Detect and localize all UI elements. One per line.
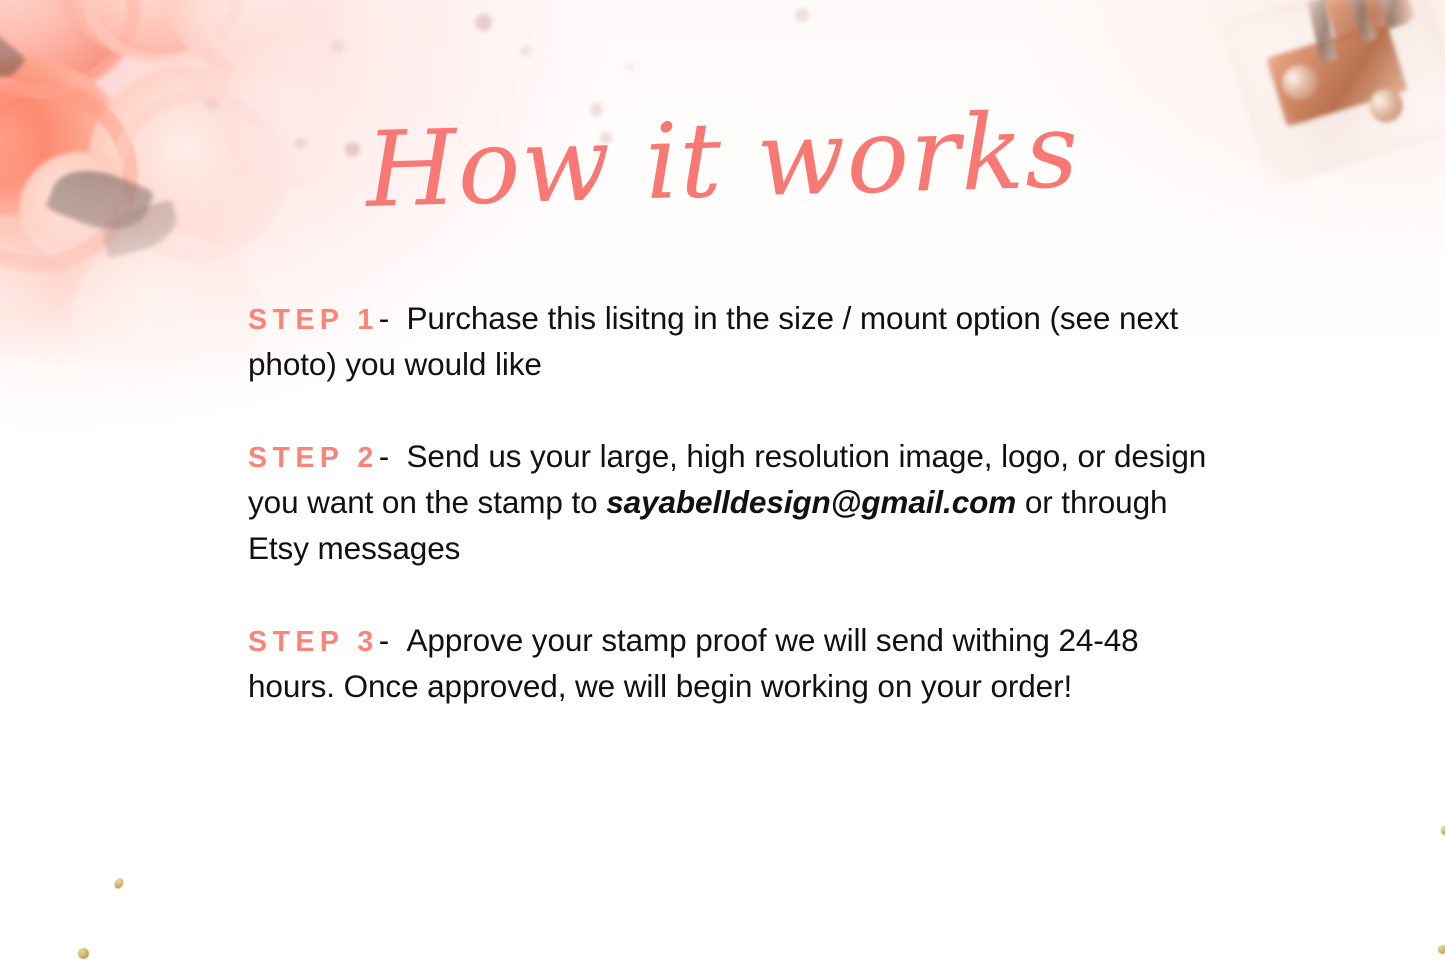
step-item-2: STEP 2- Send us your large, high resolut… bbox=[248, 434, 1208, 572]
step-2-label: STEP 2 bbox=[248, 442, 379, 474]
step-3-dash: - bbox=[379, 622, 390, 658]
step-1-label: STEP 1 bbox=[248, 304, 379, 336]
step-item-1: STEP 1- Purchase this lisitng in the siz… bbox=[248, 296, 1208, 388]
how-it-works-card: How it works STEP 1- Purchase this lisit… bbox=[0, 0, 1445, 963]
step-1-dash: - bbox=[379, 300, 390, 336]
contact-email[interactable]: sayabelldesign@gmail.com bbox=[606, 484, 1016, 520]
step-3-label: STEP 3 bbox=[248, 626, 379, 658]
step-item-3: STEP 3- Approve your stamp proof we will… bbox=[248, 618, 1208, 710]
page-title: How it works bbox=[0, 88, 1445, 232]
steps-list: STEP 1- Purchase this lisitng in the siz… bbox=[248, 296, 1208, 710]
step-1-body: STEP 1- Purchase this lisitng in the siz… bbox=[248, 296, 1208, 388]
step-2-body: STEP 2- Send us your large, high resolut… bbox=[248, 434, 1208, 572]
step-2-dash: - bbox=[379, 438, 390, 474]
step-3-body: STEP 3- Approve your stamp proof we will… bbox=[248, 618, 1208, 710]
